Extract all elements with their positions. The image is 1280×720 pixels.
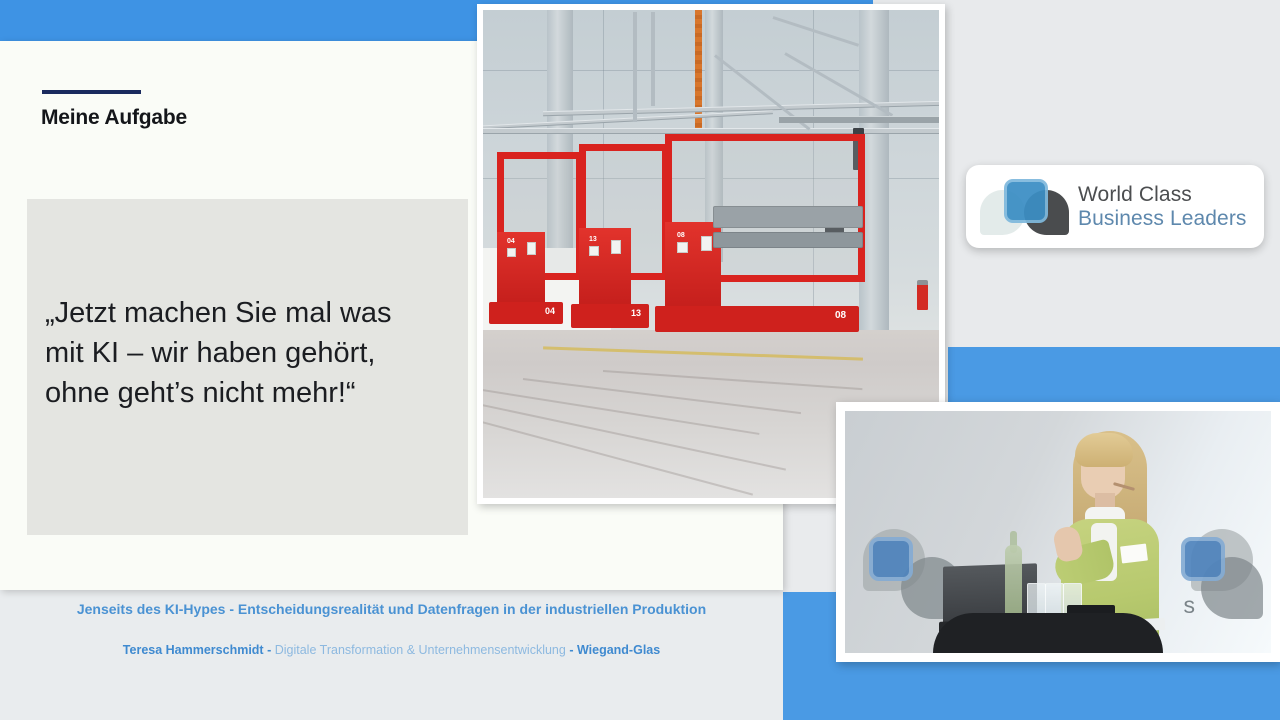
vehicle-number: 13 xyxy=(589,236,597,243)
footer: Jenseits des KI-Hypes - Entscheidungsrea… xyxy=(0,600,783,657)
machine-label xyxy=(677,242,688,253)
presentation-viewer: Meine Aufgabe „Jetzt machen Sie mal was … xyxy=(0,0,1280,720)
vehicle-number: 08 xyxy=(677,232,685,239)
floor-marking xyxy=(543,346,863,360)
vehicle-number: 04 xyxy=(507,238,515,245)
machine-cabinet xyxy=(497,232,545,304)
machine-tooling xyxy=(713,232,863,248)
truss-rod xyxy=(651,12,655,106)
vehicle-number: 04 xyxy=(545,306,555,316)
speaker-video-image: s xyxy=(845,411,1271,653)
machine-label xyxy=(507,248,516,257)
speaker-company: - Wiegand-Glas xyxy=(569,643,660,657)
overhead-rail xyxy=(779,116,939,123)
world-class-business-leaders-logo: World Class Business Leaders xyxy=(966,165,1264,248)
speaker-video[interactable]: s xyxy=(836,402,1280,662)
speaker-line: Teresa Hammerschmidt - Digitale Transfor… xyxy=(0,643,783,657)
floor-streak xyxy=(483,386,759,435)
vehicle-number: 08 xyxy=(835,310,846,321)
speaker-name: Teresa Hammerschmidt - xyxy=(123,643,271,657)
name-badge xyxy=(1120,543,1148,563)
machine-label xyxy=(589,246,599,256)
backdrop-bubble-blue-icon xyxy=(1181,537,1225,581)
bubble-blue-icon xyxy=(1004,179,1048,223)
backdrop-bubble-blue-icon xyxy=(869,537,913,581)
floor-streak xyxy=(523,378,801,414)
floor-streak xyxy=(483,416,753,496)
logo-line-2: Business Leaders xyxy=(1078,207,1247,231)
machine-cabinet xyxy=(579,228,631,306)
machine-label xyxy=(701,236,712,251)
machine-tooling xyxy=(713,206,863,228)
floor-streak xyxy=(603,370,863,390)
truss-rod xyxy=(633,12,637,122)
talk-title: Jenseits des KI-Hypes - Entscheidungsrea… xyxy=(0,600,783,619)
vehicle-number: 13 xyxy=(631,308,641,318)
logo-line-1: World Class xyxy=(1078,183,1247,207)
quote-text: „Jetzt machen Sie mal was mit KI – wir h… xyxy=(27,294,410,439)
machine-label xyxy=(527,242,536,255)
machine-label xyxy=(611,240,621,254)
title-rule xyxy=(42,90,141,94)
table xyxy=(933,613,1163,653)
logo-wordmark: World Class Business Leaders xyxy=(1078,183,1247,230)
machine-base xyxy=(655,306,859,332)
speech-bubbles-icon xyxy=(976,177,1072,237)
page-title: Meine Aufgabe xyxy=(41,106,187,130)
hair-front-icon xyxy=(1075,433,1133,467)
backdrop-text: s xyxy=(1184,592,1196,619)
quote-box: „Jetzt machen Sie mal was mit KI – wir h… xyxy=(27,199,468,535)
speaker-role: Digitale Transformation & Unternehmensen… xyxy=(275,643,566,657)
fire-extinguisher-icon xyxy=(917,280,928,310)
